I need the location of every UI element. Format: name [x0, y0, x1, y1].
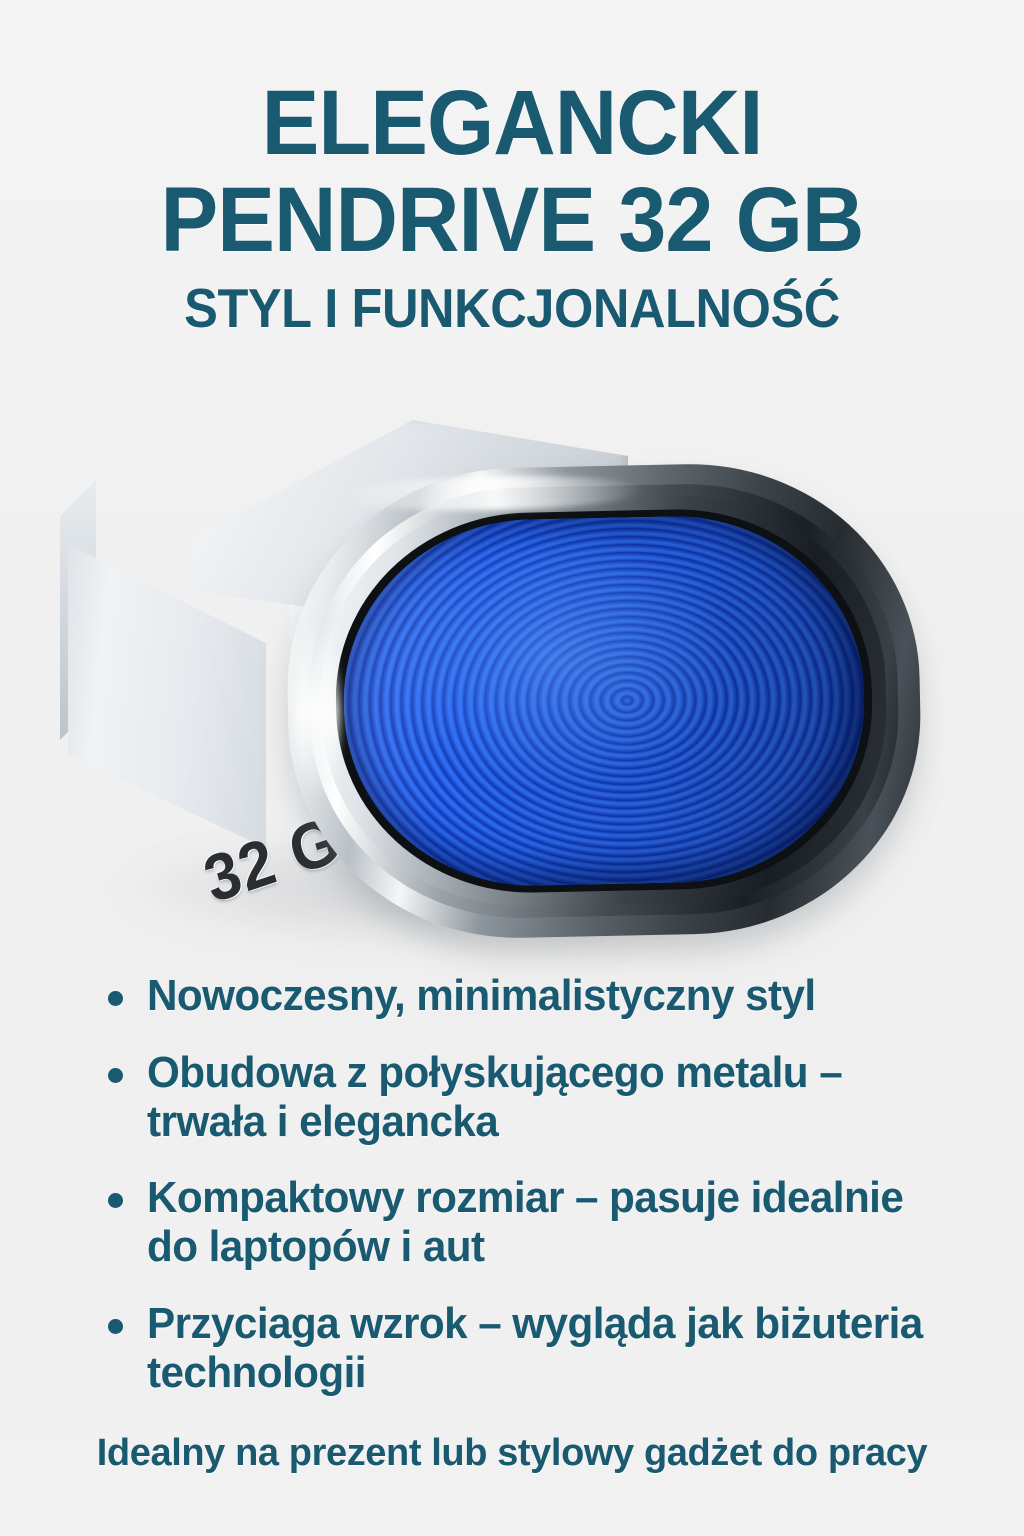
- chrome-bezel-groove: [306, 480, 903, 922]
- feature-text: Nowoczesny, minimalistyczny styl: [147, 972, 816, 1021]
- poster-canvas: ELEGANCKI PENDRIVE 32 GB STYL I FUNKCJON…: [0, 0, 1024, 1536]
- list-item: Kompaktowy rozmiar – pasuje idealnie do …: [98, 1174, 976, 1272]
- feature-text: Kompaktowy rozmiar – pasuje idealnie do …: [147, 1174, 943, 1272]
- bullet-dot-icon: [108, 1193, 123, 1208]
- chrome-bezel-ring: [283, 459, 925, 942]
- feature-list: Nowoczesny, minimalistyczny styl Obudowa…: [98, 972, 976, 1426]
- product-image-usb-drive: 32 GB: [0, 398, 1024, 958]
- list-item: Obudowa z połyskującego metalu – trwała …: [98, 1049, 976, 1147]
- footer-tagline: Idealny na prezent lub stylowy gadżet do…: [0, 1432, 1024, 1475]
- page-title-line-2: PENDRIVE 32 GB: [31, 175, 994, 266]
- heading-block: ELEGANCKI PENDRIVE 32 GB STYL I FUNKCJON…: [0, 78, 1024, 340]
- disc-vignette: [340, 513, 868, 890]
- bullet-dot-icon: [108, 1319, 123, 1334]
- blue-guilloche-disc: [340, 513, 868, 890]
- feature-text: Obudowa z połyskującego metalu – trwała …: [147, 1049, 943, 1147]
- feature-text: Przyciaga wzrok – wygląda jak biżuteria …: [147, 1300, 943, 1398]
- bullet-dot-icon: [108, 991, 123, 1006]
- chrome-bezel-inner: [318, 492, 890, 910]
- list-item: Przyciaga wzrok – wygląda jak biżuteria …: [98, 1300, 976, 1398]
- page-title-line-1: ELEGANCKI: [31, 78, 994, 169]
- page-subtitle: STYL I FUNKCJONALNOŚĆ: [41, 276, 983, 340]
- bullet-dot-icon: [108, 1068, 123, 1083]
- chrome-bezel-lip: [332, 505, 876, 896]
- list-item: Nowoczesny, minimalistyczny styl: [98, 972, 976, 1021]
